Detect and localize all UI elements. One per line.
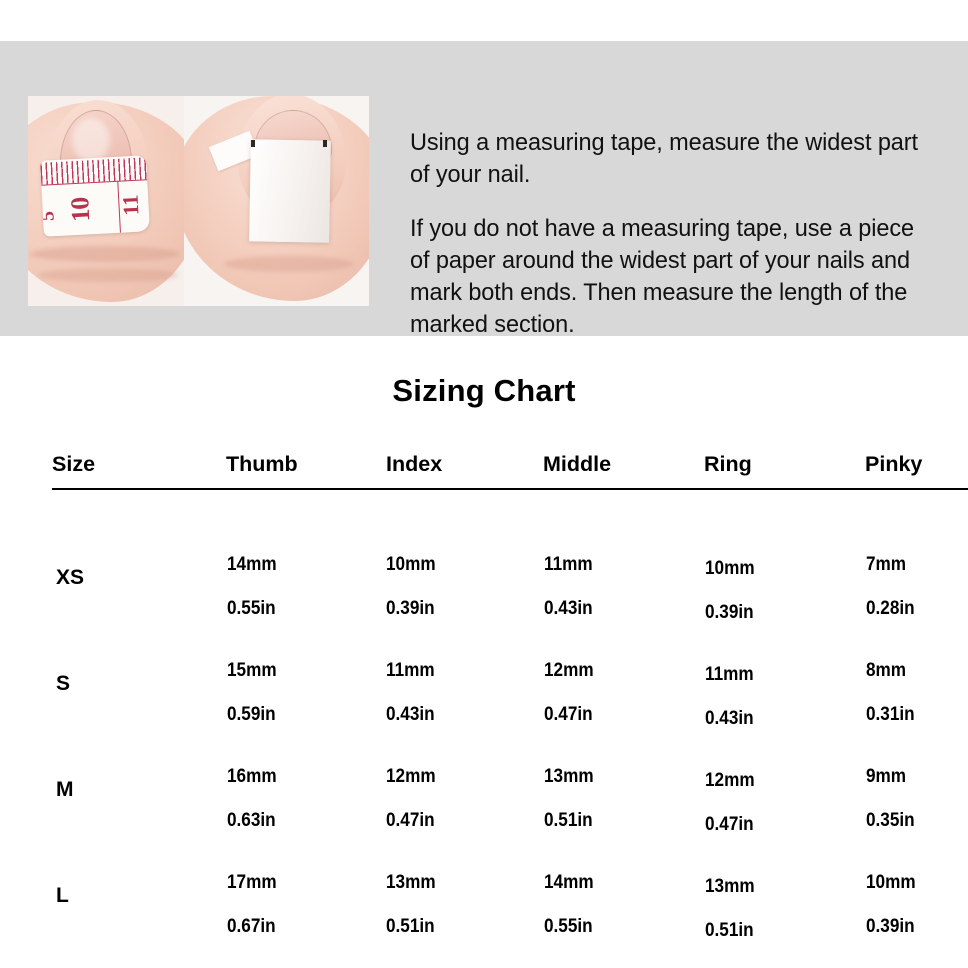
cell-s-pinky: 8mm 0.31in [866, 648, 921, 736]
tape-number-left: 5 [40, 210, 60, 221]
cell-value-in: 0.43in [544, 586, 593, 630]
cell-m-ring: 12mm 0.47in [705, 758, 761, 846]
cell-value-mm: 11mm [705, 652, 754, 696]
cell-xs-pinky: 7mm 0.28in [866, 542, 921, 630]
measuring-photos: 5 10 11 [28, 96, 369, 306]
cell-value-in: 0.47in [386, 798, 436, 842]
cell-value-mm: 15mm [227, 648, 277, 692]
cell-value-in: 0.43in [705, 696, 754, 740]
cell-value-mm: 9mm [866, 754, 915, 798]
measuring-tape-icon: 5 10 11 [40, 155, 150, 236]
column-header-size: Size [52, 452, 95, 477]
cell-value-mm: 12mm [705, 758, 755, 802]
cell-m-middle: 13mm 0.51in [544, 754, 600, 842]
cell-value-mm: 11mm [386, 648, 435, 692]
mark-right-icon [323, 140, 327, 147]
column-header-index: Index [386, 452, 442, 477]
table-row: L 17mm 0.67in 13mm 0.51in 14mm 0.55in 13… [0, 846, 968, 952]
table-row: XS 14mm 0.55in 10mm 0.39in 11mm 0.43in 1… [0, 528, 968, 634]
instruction-text: Using a measuring tape, measure the wide… [410, 127, 955, 341]
cell-value-in: 0.39in [866, 904, 916, 948]
cell-xs-thumb: 14mm 0.55in [227, 542, 283, 630]
cell-value-mm: 16mm [227, 754, 277, 798]
cell-value-mm: 8mm [866, 648, 915, 692]
row-size-label: S [56, 672, 70, 696]
cell-value-mm: 11mm [544, 542, 593, 586]
mark-left-icon [251, 140, 255, 147]
cell-m-pinky: 9mm 0.35in [866, 754, 921, 842]
cell-value-in: 0.59in [227, 692, 277, 736]
row-size-label: XS [56, 566, 84, 590]
cell-l-pinky: 10mm 0.39in [866, 860, 922, 948]
paper-strip-icon [249, 139, 331, 242]
photo-tape-measure: 5 10 11 [28, 96, 184, 306]
cell-value-in: 0.47in [544, 692, 594, 736]
table-body: XS 14mm 0.55in 10mm 0.39in 11mm 0.43in 1… [0, 528, 968, 948]
sizing-table: Size Thumb Index Middle Ring Pinky XS 14… [0, 452, 968, 948]
cell-value-in: 0.28in [866, 586, 915, 630]
cell-value-mm: 10mm [705, 546, 755, 590]
photo-paper-strip [184, 96, 369, 306]
instruction-paragraph-1: Using a measuring tape, measure the wide… [410, 127, 933, 191]
cell-value-in: 0.55in [544, 904, 594, 948]
cell-value-in: 0.55in [227, 586, 277, 630]
cell-value-mm: 13mm [386, 860, 436, 904]
cell-value-mm: 17mm [227, 860, 277, 904]
column-header-middle: Middle [543, 452, 611, 477]
cell-value-in: 0.51in [705, 908, 755, 952]
cell-value-in: 0.51in [386, 904, 436, 948]
row-size-label: M [56, 778, 74, 802]
cell-value-in: 0.51in [544, 798, 594, 842]
cell-value-in: 0.39in [705, 590, 755, 634]
column-header-ring: Ring [704, 452, 752, 477]
header-divider [52, 488, 968, 490]
column-header-thumb: Thumb [226, 452, 298, 477]
cell-s-ring: 11mm 0.43in [705, 652, 760, 740]
table-row: M 16mm 0.63in 12mm 0.47in 13mm 0.51in 12… [0, 740, 968, 846]
tape-number-right: 11 [117, 194, 144, 216]
cell-value-in: 0.67in [227, 904, 277, 948]
cell-m-index: 12mm 0.47in [386, 754, 442, 842]
cell-value-mm: 14mm [227, 542, 277, 586]
cell-value-mm: 12mm [386, 754, 436, 798]
column-header-pinky: Pinky [865, 452, 922, 477]
table-header-row: Size Thumb Index Middle Ring Pinky [0, 452, 968, 484]
cell-value-in: 0.31in [866, 692, 915, 736]
cell-value-mm: 10mm [386, 542, 436, 586]
cell-value-in: 0.63in [227, 798, 277, 842]
cell-l-middle: 14mm 0.55in [544, 860, 600, 948]
cell-value-mm: 12mm [544, 648, 594, 692]
page-title: Sizing Chart [0, 373, 968, 409]
instruction-banner: 5 10 11 Using a measuring tape, measure … [0, 41, 968, 336]
cell-xs-middle: 11mm 0.43in [544, 542, 599, 630]
cell-l-thumb: 17mm 0.67in [227, 860, 283, 948]
cell-l-ring: 13mm 0.51in [705, 864, 761, 952]
cell-xs-index: 10mm 0.39in [386, 542, 442, 630]
cell-value-mm: 13mm [705, 864, 755, 908]
cell-l-index: 13mm 0.51in [386, 860, 442, 948]
cell-value-in: 0.43in [386, 692, 435, 736]
tape-number-main: 10 [65, 197, 96, 223]
cell-value-mm: 7mm [866, 542, 915, 586]
cell-xs-ring: 10mm 0.39in [705, 546, 761, 634]
cell-value-in: 0.39in [386, 586, 436, 630]
cell-s-index: 11mm 0.43in [386, 648, 441, 736]
cell-s-thumb: 15mm 0.59in [227, 648, 283, 736]
cell-value-mm: 10mm [866, 860, 916, 904]
cell-value-mm: 13mm [544, 754, 594, 798]
table-row: S 15mm 0.59in 11mm 0.43in 12mm 0.47in 11… [0, 634, 968, 740]
cell-s-middle: 12mm 0.47in [544, 648, 600, 736]
cell-value-in: 0.47in [705, 802, 755, 846]
cell-value-in: 0.35in [866, 798, 915, 842]
cell-value-mm: 14mm [544, 860, 594, 904]
row-size-label: L [56, 884, 69, 908]
cell-m-thumb: 16mm 0.63in [227, 754, 283, 842]
instruction-paragraph-2: If you do not have a measuring tape, use… [410, 213, 933, 341]
